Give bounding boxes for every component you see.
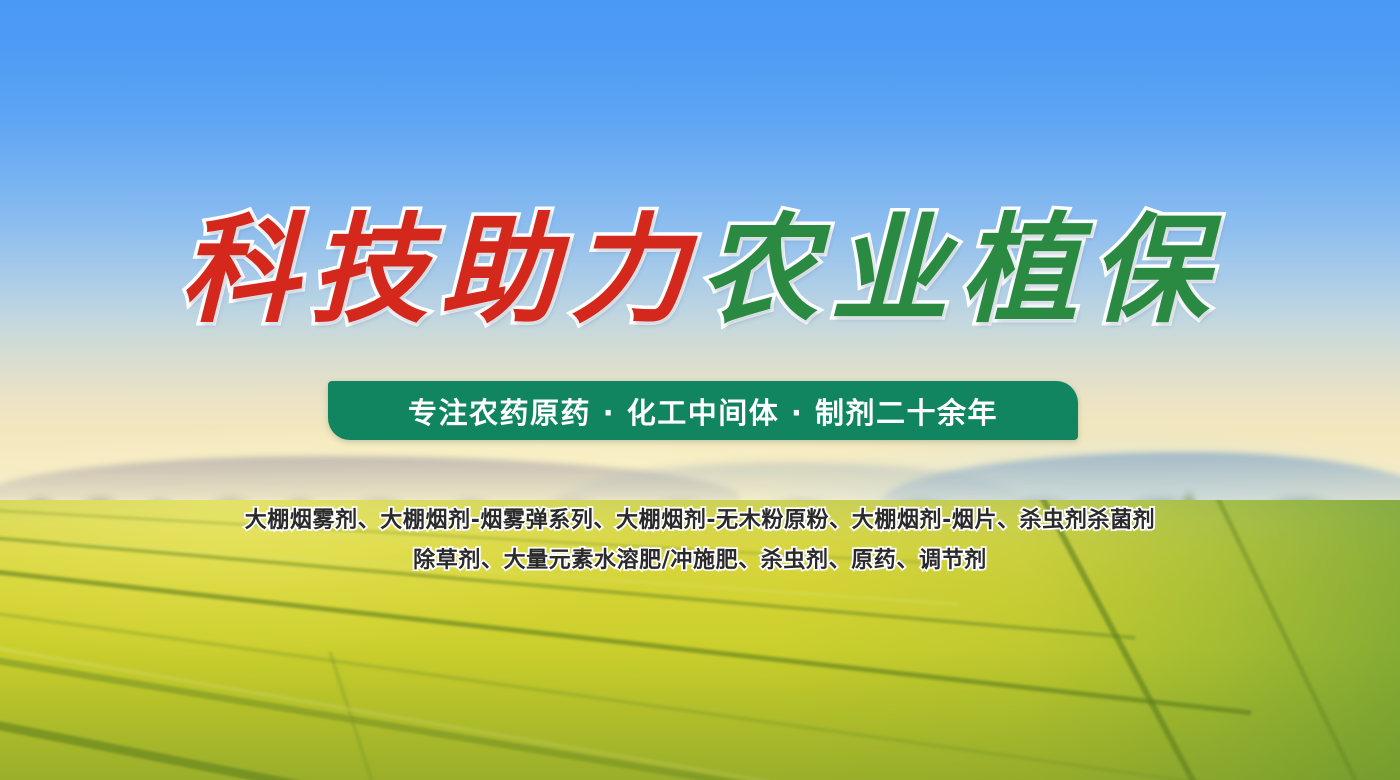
page-title: 科技助力农业植保	[0, 196, 1400, 344]
subtitle-text: 专注农药原药 · 化工中间体 · 制剂二十余年	[408, 390, 998, 432]
field-foreground-shade	[0, 650, 1400, 780]
product-line-2: 除草剂、大量元素水溶肥/冲施肥、杀虫剂、原药、调节剂	[0, 541, 1400, 581]
product-line-1: 大棚烟雾剂、大棚烟剂-烟雾弹系列、大棚烟剂-无木粉原粉、大棚烟剂-烟片、杀虫剂杀…	[0, 501, 1400, 541]
product-list: 大棚烟雾剂、大棚烟剂-烟雾弹系列、大棚烟剂-无木粉原粉、大棚烟剂-烟片、杀虫剂杀…	[0, 501, 1400, 581]
page-title-green-part: 农业植保	[700, 196, 1220, 344]
hero-banner: 科技助力农业植保 专注农药原药 · 化工中间体 · 制剂二十余年 大棚烟雾剂、大…	[0, 0, 1400, 780]
subtitle-banner: 专注农药原药 · 化工中间体 · 制剂二十余年	[328, 381, 1078, 440]
page-title-red-part: 科技助力	[180, 196, 700, 344]
